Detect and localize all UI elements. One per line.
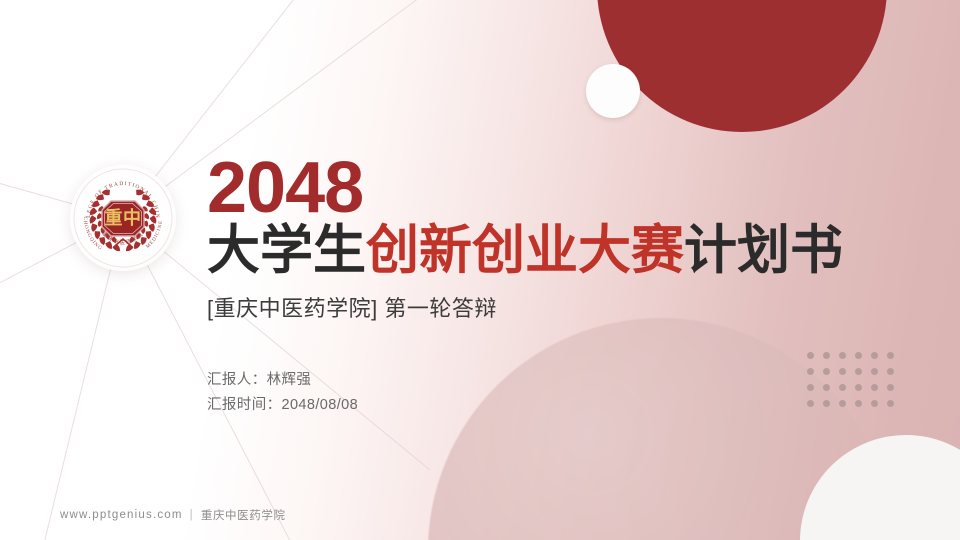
grid-dot <box>839 368 846 375</box>
subtitle: [重庆中医药学院] 第一轮答辩 <box>207 291 847 323</box>
grid-dot <box>839 384 846 391</box>
grid-dot <box>855 352 862 359</box>
grid-dot <box>887 384 894 391</box>
grid-dot <box>871 400 878 407</box>
presentation-title-slide: COLLEGE OF TRADITIONAL CHINESE CHONGQING… <box>0 0 960 540</box>
footer-website[interactable]: www.pptgenius.com <box>60 509 183 521</box>
grid-dot <box>855 384 862 391</box>
grid-dot <box>871 368 878 375</box>
grid-dot <box>871 384 878 391</box>
main-title: 大学生创新创业大赛计划书 <box>207 223 847 279</box>
grid-dot <box>823 352 830 359</box>
grid-dot <box>807 400 814 407</box>
grid-dot <box>887 352 894 359</box>
university-logo: COLLEGE OF TRADITIONAL CHINESE CHONGQING… <box>70 165 176 271</box>
logo-center-characters: 重中 <box>105 207 142 228</box>
grid-dot <box>887 368 894 375</box>
grid-dot <box>839 352 846 359</box>
footer-organization: 重庆中医药学院 <box>201 507 286 523</box>
presenter-line: 汇报人：林辉强 <box>207 368 358 393</box>
presenter-meta: 汇报人：林辉强 汇报时间：2048/08/08 <box>207 368 358 418</box>
grid-dot <box>887 400 894 407</box>
grid-dot <box>839 400 846 407</box>
grid-dot <box>807 384 814 391</box>
grid-dot <box>823 384 830 391</box>
date-line: 汇报时间：2048/08/08 <box>207 393 358 418</box>
grid-dot <box>855 368 862 375</box>
grid-dot <box>807 352 814 359</box>
main-title-part-1: 大学生 <box>207 221 366 280</box>
dot-grid-decor <box>807 352 903 416</box>
footer: www.pptgenius.com | 重庆中医药学院 <box>60 507 286 523</box>
year-heading: 2048 <box>207 155 847 221</box>
main-title-part-2-accent: 创新创业大赛 <box>366 221 684 280</box>
grid-dot <box>855 400 862 407</box>
main-title-part-3: 计划书 <box>684 221 843 280</box>
grid-dot <box>871 352 878 359</box>
title-text-block: 2048 大学生创新创业大赛计划书 [重庆中医药学院] 第一轮答辩 <box>207 155 847 323</box>
grid-dot <box>807 368 814 375</box>
grid-dot <box>823 400 830 407</box>
footer-separator: | <box>190 509 194 521</box>
grid-dot <box>823 368 830 375</box>
